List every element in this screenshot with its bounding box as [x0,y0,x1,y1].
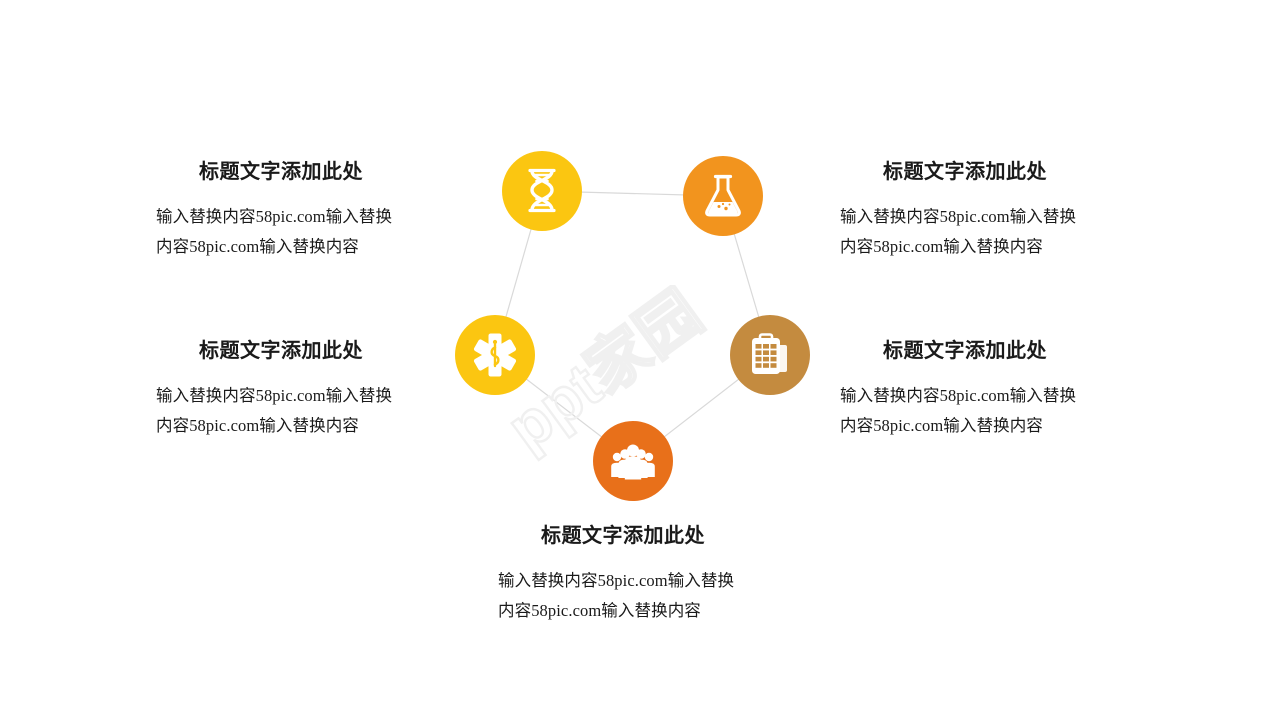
people-group-icon [610,441,656,481]
block-body: 输入替换内容58pic.com输入替换内容58pic.com输入替换内容 [156,381,406,441]
text-block-bottom-right: 标题文字添加此处 输入替换内容58pic.com输入替换内容58pic.com输… [840,339,1090,441]
node-clipboard[interactable] [730,315,810,395]
dna-icon [521,168,563,214]
block-body: 输入替换内容58pic.com输入替换内容58pic.com输入替换内容 [840,381,1090,441]
node-people[interactable] [593,421,673,501]
block-title: 标题文字添加此处 [840,339,1090,363]
block-body: 输入替换内容58pic.com输入替换内容58pic.com输入替换内容 [840,202,1090,262]
star-of-life-icon [472,332,518,378]
node-dna[interactable] [502,151,582,231]
block-body: 输入替换内容58pic.com输入替换内容58pic.com输入替换内容 [498,566,748,626]
text-block-bottom-left: 标题文字添加此处 输入替换内容58pic.com输入替换内容58pic.com输… [156,339,406,441]
block-title: 标题文字添加此处 [156,339,406,363]
text-block-top-right: 标题文字添加此处 输入替换内容58pic.com输入替换内容58pic.com输… [840,160,1090,262]
block-title: 标题文字添加此处 [156,160,406,184]
node-flask[interactable] [683,156,763,236]
slide-canvas: ppt家园 [0,0,1280,720]
block-title: 标题文字添加此处 [498,524,748,548]
block-title: 标题文字添加此处 [840,160,1090,184]
text-block-top-left: 标题文字添加此处 输入替换内容58pic.com输入替换内容58pic.com输… [156,160,406,262]
clipboard-icon [748,332,792,378]
text-block-bottom-center: 标题文字添加此处 输入替换内容58pic.com输入替换内容58pic.com输… [498,524,748,626]
flask-icon [702,173,744,219]
block-body: 输入替换内容58pic.com输入替换内容58pic.com输入替换内容 [156,202,406,262]
node-star-of-life[interactable] [455,315,535,395]
